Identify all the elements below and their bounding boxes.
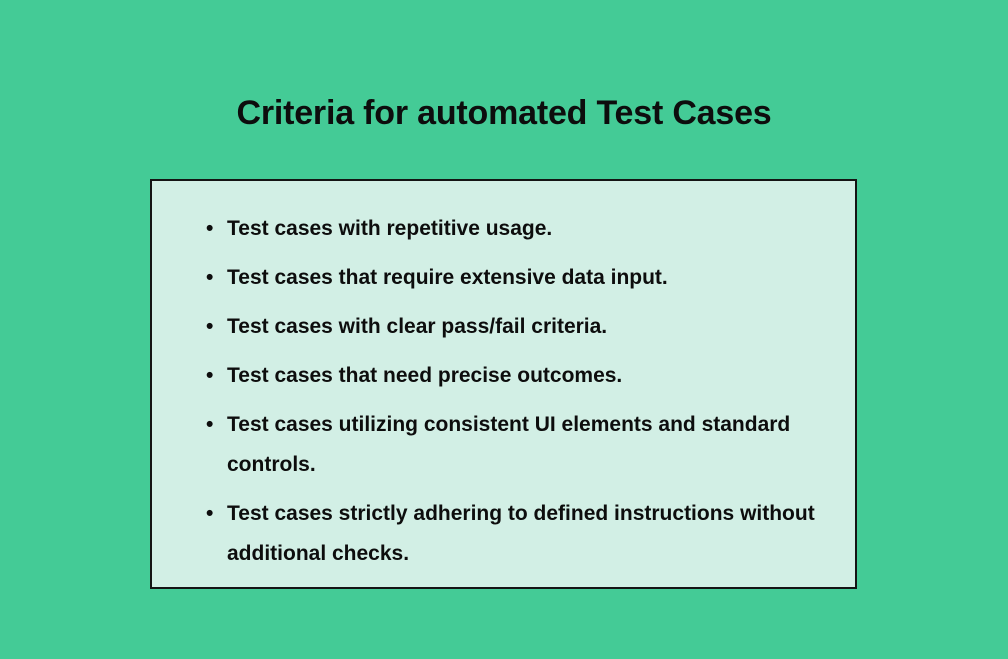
- page-title: Criteria for automated Test Cases: [0, 91, 1008, 135]
- list-item: • Test cases that need precise outcomes.: [206, 356, 819, 396]
- list-item: • Test cases with clear pass/fail criter…: [206, 307, 819, 347]
- list-item-label: Test cases that require extensive data i…: [227, 258, 819, 298]
- bullet-icon: •: [206, 258, 227, 298]
- list-item-label: Test cases with clear pass/fail criteria…: [227, 307, 819, 347]
- list-item: • Test cases that require extensive data…: [206, 258, 819, 298]
- list-item: • Test cases utilizing consistent UI ele…: [206, 405, 819, 485]
- list-item-label: Test cases utilizing consistent UI eleme…: [227, 405, 819, 485]
- list-item-label: Test cases that need precise outcomes.: [227, 356, 819, 396]
- list-item: • Test cases strictly adhering to define…: [206, 494, 819, 574]
- bullet-icon: •: [206, 405, 227, 445]
- list-item-label: Test cases with repetitive usage.: [227, 209, 819, 249]
- list-item-label: Test cases strictly adhering to defined …: [227, 494, 819, 574]
- list-item: • Test cases with repetitive usage.: [206, 209, 819, 249]
- bullet-icon: •: [206, 307, 227, 347]
- slide-canvas: Criteria for automated Test Cases • Test…: [0, 0, 1008, 659]
- bullet-icon: •: [206, 209, 227, 249]
- bullet-icon: •: [206, 494, 227, 534]
- bullet-icon: •: [206, 356, 227, 396]
- criteria-card: • Test cases with repetitive usage. • Te…: [150, 179, 857, 589]
- criteria-list: • Test cases with repetitive usage. • Te…: [152, 181, 855, 574]
